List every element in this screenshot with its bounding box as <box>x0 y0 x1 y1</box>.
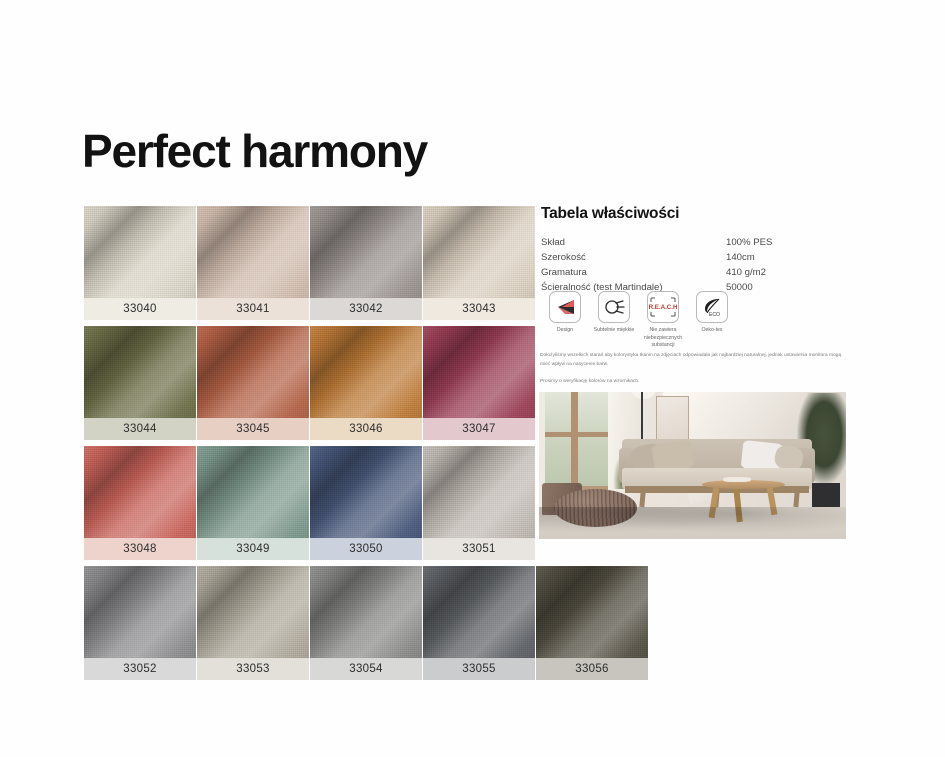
fabric-sample-image <box>310 326 422 418</box>
photo-tree-planter <box>812 483 840 509</box>
badge-caption: Nie zawiera niebezpiecznych substancji <box>640 327 686 350</box>
badge-box: ECO <box>696 291 728 323</box>
badge-box: R.E.A.C.H <box>647 291 679 323</box>
badge-caption: Design <box>542 327 588 335</box>
spec-value: 50000 <box>716 282 846 297</box>
fabric-sample-image <box>197 446 309 538</box>
fabric-sample-image <box>310 206 422 298</box>
table-row: Skład 100% PES <box>541 237 846 252</box>
table-row: Szerokość 140cm <box>541 252 846 267</box>
table-row: Gramatura 410 g/m2 <box>541 267 846 282</box>
fabric-fold-shading <box>197 446 309 538</box>
fabric-sample-image <box>84 446 196 538</box>
fabric-sample-image <box>84 206 196 298</box>
photo-sofa-leg <box>793 492 799 507</box>
page-title: Perfect harmony <box>82 127 427 175</box>
swatch-code-label: 33041 <box>197 298 309 320</box>
properties-table-section: Tabela właściwości Skład 100% PES Szerok… <box>541 205 846 297</box>
badge-box <box>549 291 581 323</box>
fabric-sample-image <box>423 566 535 658</box>
swatch-code-label: 33054 <box>310 658 422 680</box>
swatch-code-label: 33045 <box>197 418 309 440</box>
fabric-swatch[interactable]: 33053 <box>197 566 309 680</box>
photo-window-frame-horizontal <box>545 432 609 437</box>
swatch-code-label: 33050 <box>310 538 422 560</box>
color-disclaimer: Dołożyliśmy wszelkich starań aby kolorys… <box>540 352 848 396</box>
badge-reach: R.E.A.C.H Nie zawiera niebezpiecznych su… <box>647 291 679 350</box>
spec-name: Skład <box>541 237 716 252</box>
fabric-sample-image <box>536 566 648 658</box>
fabric-sample-image <box>423 206 535 298</box>
swatch-code-label: 33052 <box>84 658 196 680</box>
fabric-fold-shading <box>536 566 648 658</box>
fabric-fold-shading <box>310 326 422 418</box>
badge-box <box>598 291 630 323</box>
fabric-swatch[interactable]: 33055 <box>423 566 535 680</box>
fabric-fold-shading <box>310 446 422 538</box>
fabric-fold-shading <box>423 326 535 418</box>
fabric-fold-shading <box>310 566 422 658</box>
photo-floor-shadows <box>539 507 846 539</box>
fabric-sample-image <box>84 326 196 418</box>
fabric-sample-image <box>423 446 535 538</box>
badge-caption: Oeko-tex <box>689 327 735 335</box>
spec-value: 140cm <box>716 252 846 267</box>
fabric-swatch[interactable]: 33056 <box>536 566 648 680</box>
fabric-swatch[interactable]: 33043 <box>423 206 535 320</box>
spec-name: Gramatura <box>541 267 716 282</box>
badge-oeko-tex: ECO Oeko-tex <box>696 291 728 350</box>
swatch-row: 33052 33053 33054 <box>84 566 664 680</box>
swatch-code-label: 33046 <box>310 418 422 440</box>
fabric-swatch[interactable]: 33040 <box>84 206 196 320</box>
swatch-code-label: 33048 <box>84 538 196 560</box>
fabric-fold-shading <box>84 566 196 658</box>
swatch-code-label: 33044 <box>84 418 196 440</box>
fabric-sample-image <box>197 326 309 418</box>
swatch-code-label: 33042 <box>310 298 422 320</box>
swatch-code-label: 33055 <box>423 658 535 680</box>
interior-room-photo <box>539 392 846 539</box>
swatch-code-label: 33051 <box>423 538 535 560</box>
design-arrow-icon <box>554 298 576 316</box>
fabric-fold-shading <box>197 206 309 298</box>
fabric-swatch[interactable]: 33042 <box>310 206 422 320</box>
fabric-swatch[interactable]: 33048 <box>84 446 196 560</box>
fabric-fold-shading <box>84 206 196 298</box>
fabric-swatch[interactable]: 33044 <box>84 326 196 440</box>
svg-text:R.E.A.C.H: R.E.A.C.H <box>649 304 677 311</box>
swatch-code-label: 33047 <box>423 418 535 440</box>
fabric-fold-shading <box>197 566 309 658</box>
disclaimer-line-1: Dołożyliśmy wszelkich starań aby kolorys… <box>540 352 848 369</box>
swatch-code-label: 33053 <box>197 658 309 680</box>
fabric-sample-image <box>423 326 535 418</box>
swatch-code-label: 33040 <box>84 298 196 320</box>
fabric-swatch[interactable]: 33041 <box>197 206 309 320</box>
badge-soft-touch: Subtelnie miękkie <box>598 291 630 350</box>
swatch-code-label: 33049 <box>197 538 309 560</box>
fabric-sample-image <box>197 206 309 298</box>
fabric-fold-shading <box>423 446 535 538</box>
spec-value: 410 g/m2 <box>716 267 846 282</box>
reach-icon: R.E.A.C.H <box>649 296 677 318</box>
fabric-swatch[interactable]: 33046 <box>310 326 422 440</box>
fabric-swatch[interactable]: 33054 <box>310 566 422 680</box>
fabric-sample-image <box>310 446 422 538</box>
fabric-fold-shading <box>84 326 196 418</box>
feature-badges: Design Subtelnie miękkie R.E.A.C.H Nie z… <box>549 291 728 350</box>
fabric-fold-shading <box>84 446 196 538</box>
photo-window-frame-vertical <box>571 392 578 489</box>
spec-value: 100% PES <box>716 237 846 252</box>
properties-table-heading: Tabela właściwości <box>541 205 846 223</box>
fabric-fold-shading <box>423 206 535 298</box>
fabric-swatch[interactable]: 33049 <box>197 446 309 560</box>
fabric-sample-image <box>197 566 309 658</box>
oeko-tex-leaf-icon: ECO <box>701 297 723 317</box>
fabric-swatch[interactable]: 33045 <box>197 326 309 440</box>
fabric-fold-shading <box>423 566 535 658</box>
fabric-sample-image <box>310 566 422 658</box>
fabric-swatch[interactable]: 33050 <box>310 446 422 560</box>
fabric-sample-image <box>84 566 196 658</box>
fabric-swatch[interactable]: 33051 <box>423 446 535 560</box>
badge-design: Design <box>549 291 581 350</box>
fabric-fold-shading <box>310 206 422 298</box>
svg-text:ECO: ECO <box>709 312 720 317</box>
badge-caption: Subtelnie miękkie <box>591 327 637 335</box>
soft-touch-icon <box>603 298 625 316</box>
disclaimer-line-2: Prosimy o weryfikację kolorów na wzornik… <box>540 378 848 387</box>
photo-table-decor <box>723 477 751 483</box>
fabric-swatch[interactable]: 33052 <box>84 566 196 680</box>
swatch-code-label: 33043 <box>423 298 535 320</box>
catalog-page: Perfect harmony 33040 33041 <box>0 0 945 757</box>
fabric-fold-shading <box>197 326 309 418</box>
fabric-swatch[interactable]: 33047 <box>423 326 535 440</box>
properties-table: Skład 100% PES Szerokość 140cm Gramatura… <box>541 237 846 297</box>
swatch-code-label: 33056 <box>536 658 648 680</box>
spec-name: Szerokość <box>541 252 716 267</box>
